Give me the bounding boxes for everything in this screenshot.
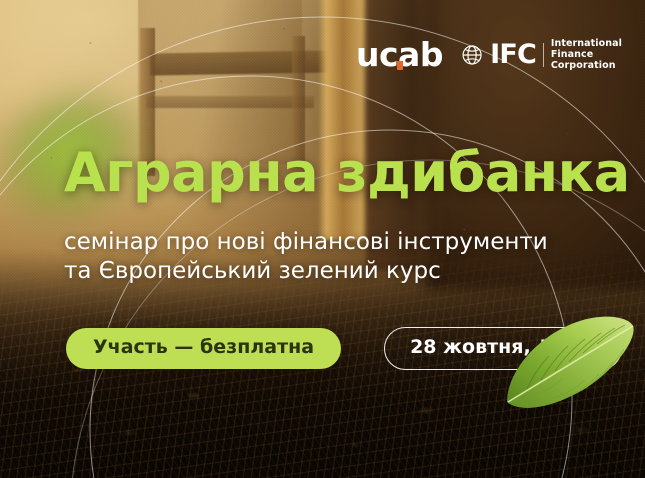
- leaf-icon: [497, 306, 641, 424]
- globe-icon: [461, 42, 483, 68]
- excavator-lower-arm: [146, 96, 314, 108]
- ifc-name-line1: International: [551, 38, 645, 49]
- logo-row: ucab IFC International Finance Corporati…: [356, 38, 645, 72]
- promo-banner: ucab IFC International Finance Corporati…: [0, 0, 645, 478]
- subtitle-line-2: та Європейський зелений курс: [64, 257, 548, 286]
- excavator-body: [138, 0, 302, 164]
- ifc-name-line2: Finance Corporation: [551, 49, 645, 71]
- subtitle: семінар про нові фінансові інструменти т…: [64, 228, 548, 287]
- ifc-logo[interactable]: IFC International Finance Corporation: [461, 38, 645, 72]
- headline: Аграрна здибанка: [64, 146, 630, 200]
- ucab-accent-mark: [397, 61, 403, 70]
- ifc-full-name: International Finance Corporation: [551, 38, 645, 72]
- ucab-logo[interactable]: ucab: [356, 38, 443, 71]
- ifc-divider: [543, 43, 544, 67]
- participation-free-button[interactable]: Участь — безплатна: [66, 328, 341, 369]
- ifc-acronym: IFC: [490, 41, 536, 68]
- subtitle-line-1: семінар про нові фінансові інструменти: [64, 228, 548, 257]
